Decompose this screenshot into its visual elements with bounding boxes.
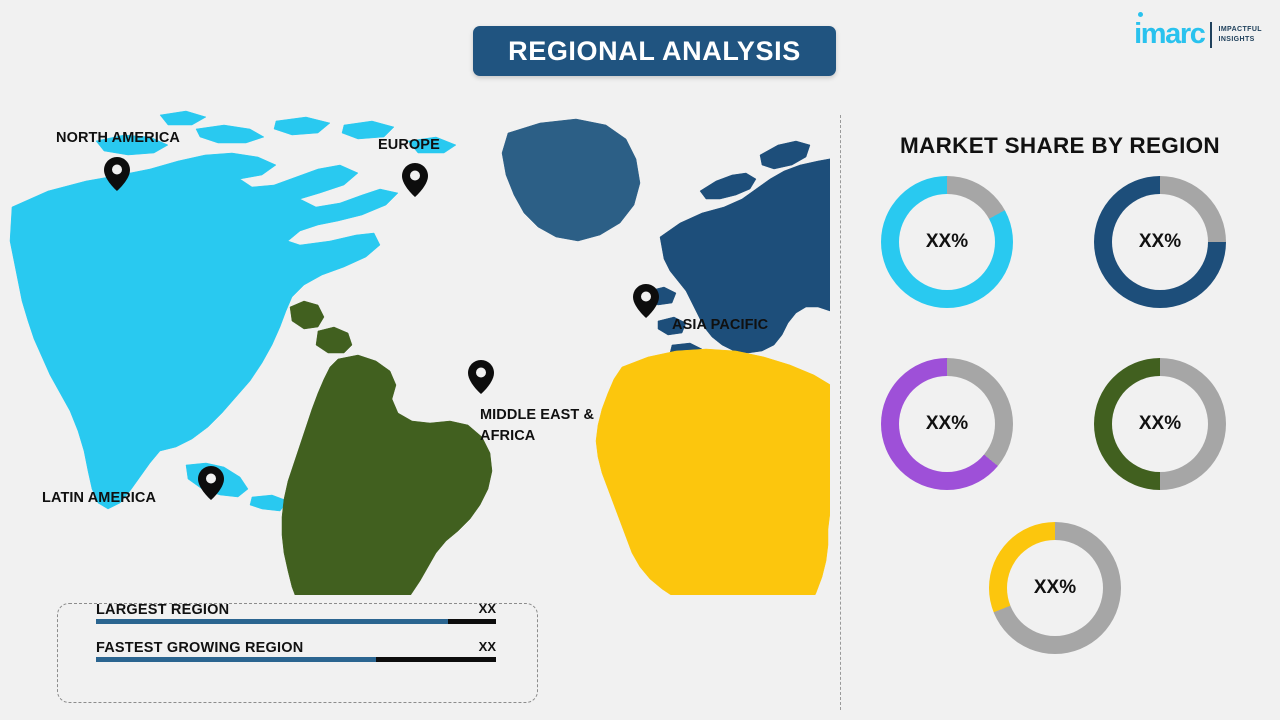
legend-label-largest-region: LARGEST REGION [96,602,229,618]
imarc-logo: imarc IMPACTFUL INSIGHTS [1134,20,1262,49]
map-label-middle-east-africa: MIDDLE EAST & AFRICA [480,405,594,447]
panel-divider [840,115,841,710]
logo-tagline-line2: INSIGHTS [1218,35,1262,44]
map-label-north-america: NORTH AMERICA [56,128,180,149]
legend-label-fastest-growing: FASTEST GROWING REGION [96,640,303,656]
map-pin-middle-east-africa-icon[interactable] [468,360,494,394]
page-title-banner: REGIONAL ANALYSIS [473,26,836,76]
logo-wordmark-text: imarc [1134,18,1204,50]
donut-chart-middle-east-africa: XX% [989,522,1121,654]
donut-value-asia-pacific: XX% [926,413,968,435]
donut-center-latin-america: XX% [1112,376,1208,472]
summary-legend-box: LARGEST REGION XX FASTEST GROWING REGION… [57,603,538,703]
donut-center-asia-pacific: XX% [899,376,995,472]
legend-bar-track-fastest [96,657,496,662]
map-region-middle-east-africa [596,349,830,595]
map-label-latin-america: LATIN AMERICA [42,488,156,509]
donut-center-north-america: XX% [899,194,995,290]
donut-value-middle-east-africa: XX% [1034,577,1076,599]
world-map: NORTH AMERICA EUROPE ASIA PACIFIC MIDDLE… [0,95,830,595]
donut-chart-latin-america: XX% [1094,358,1226,490]
logo-tagline: IMPACTFUL INSIGHTS [1218,25,1262,44]
donut-chart-asia-pacific: XX% [881,358,1013,490]
map-label-asia-pacific: ASIA PACIFIC [672,315,768,336]
donut-chart-europe: XX% [1094,176,1226,308]
logo-tagline-line1: IMPACTFUL [1218,25,1262,34]
map-pin-asia-pacific-icon[interactable] [633,284,659,318]
legend-bar-track-largest [96,619,496,624]
logo-dot-icon [1138,12,1143,17]
donut-value-latin-america: XX% [1139,413,1181,435]
donut-center-middle-east-africa: XX% [1007,540,1103,636]
map-region-europe [648,141,830,379]
map-pin-latin-america-icon[interactable] [198,466,224,500]
donut-value-europe: XX% [1139,231,1181,253]
legend-bar-fill-largest [96,619,448,624]
market-share-title: MARKET SHARE BY REGION [840,133,1280,159]
donut-center-europe: XX% [1112,194,1208,290]
donut-chart-north-america: XX% [881,176,1013,308]
legend-value-largest-region: XX [479,601,496,616]
map-region-latin-america [282,301,492,595]
legend-value-fastest-growing: XX [479,639,496,654]
legend-bar-fill-fastest [96,657,376,662]
logo-wordmark: imarc [1134,20,1204,49]
map-pin-north-america-icon[interactable] [104,157,130,191]
map-pin-europe-icon[interactable] [402,163,428,197]
map-region-greenland [502,119,640,241]
page-title: REGIONAL ANALYSIS [508,36,801,67]
logo-divider [1210,22,1212,48]
map-label-europe: EUROPE [378,135,440,156]
donut-value-north-america: XX% [926,231,968,253]
